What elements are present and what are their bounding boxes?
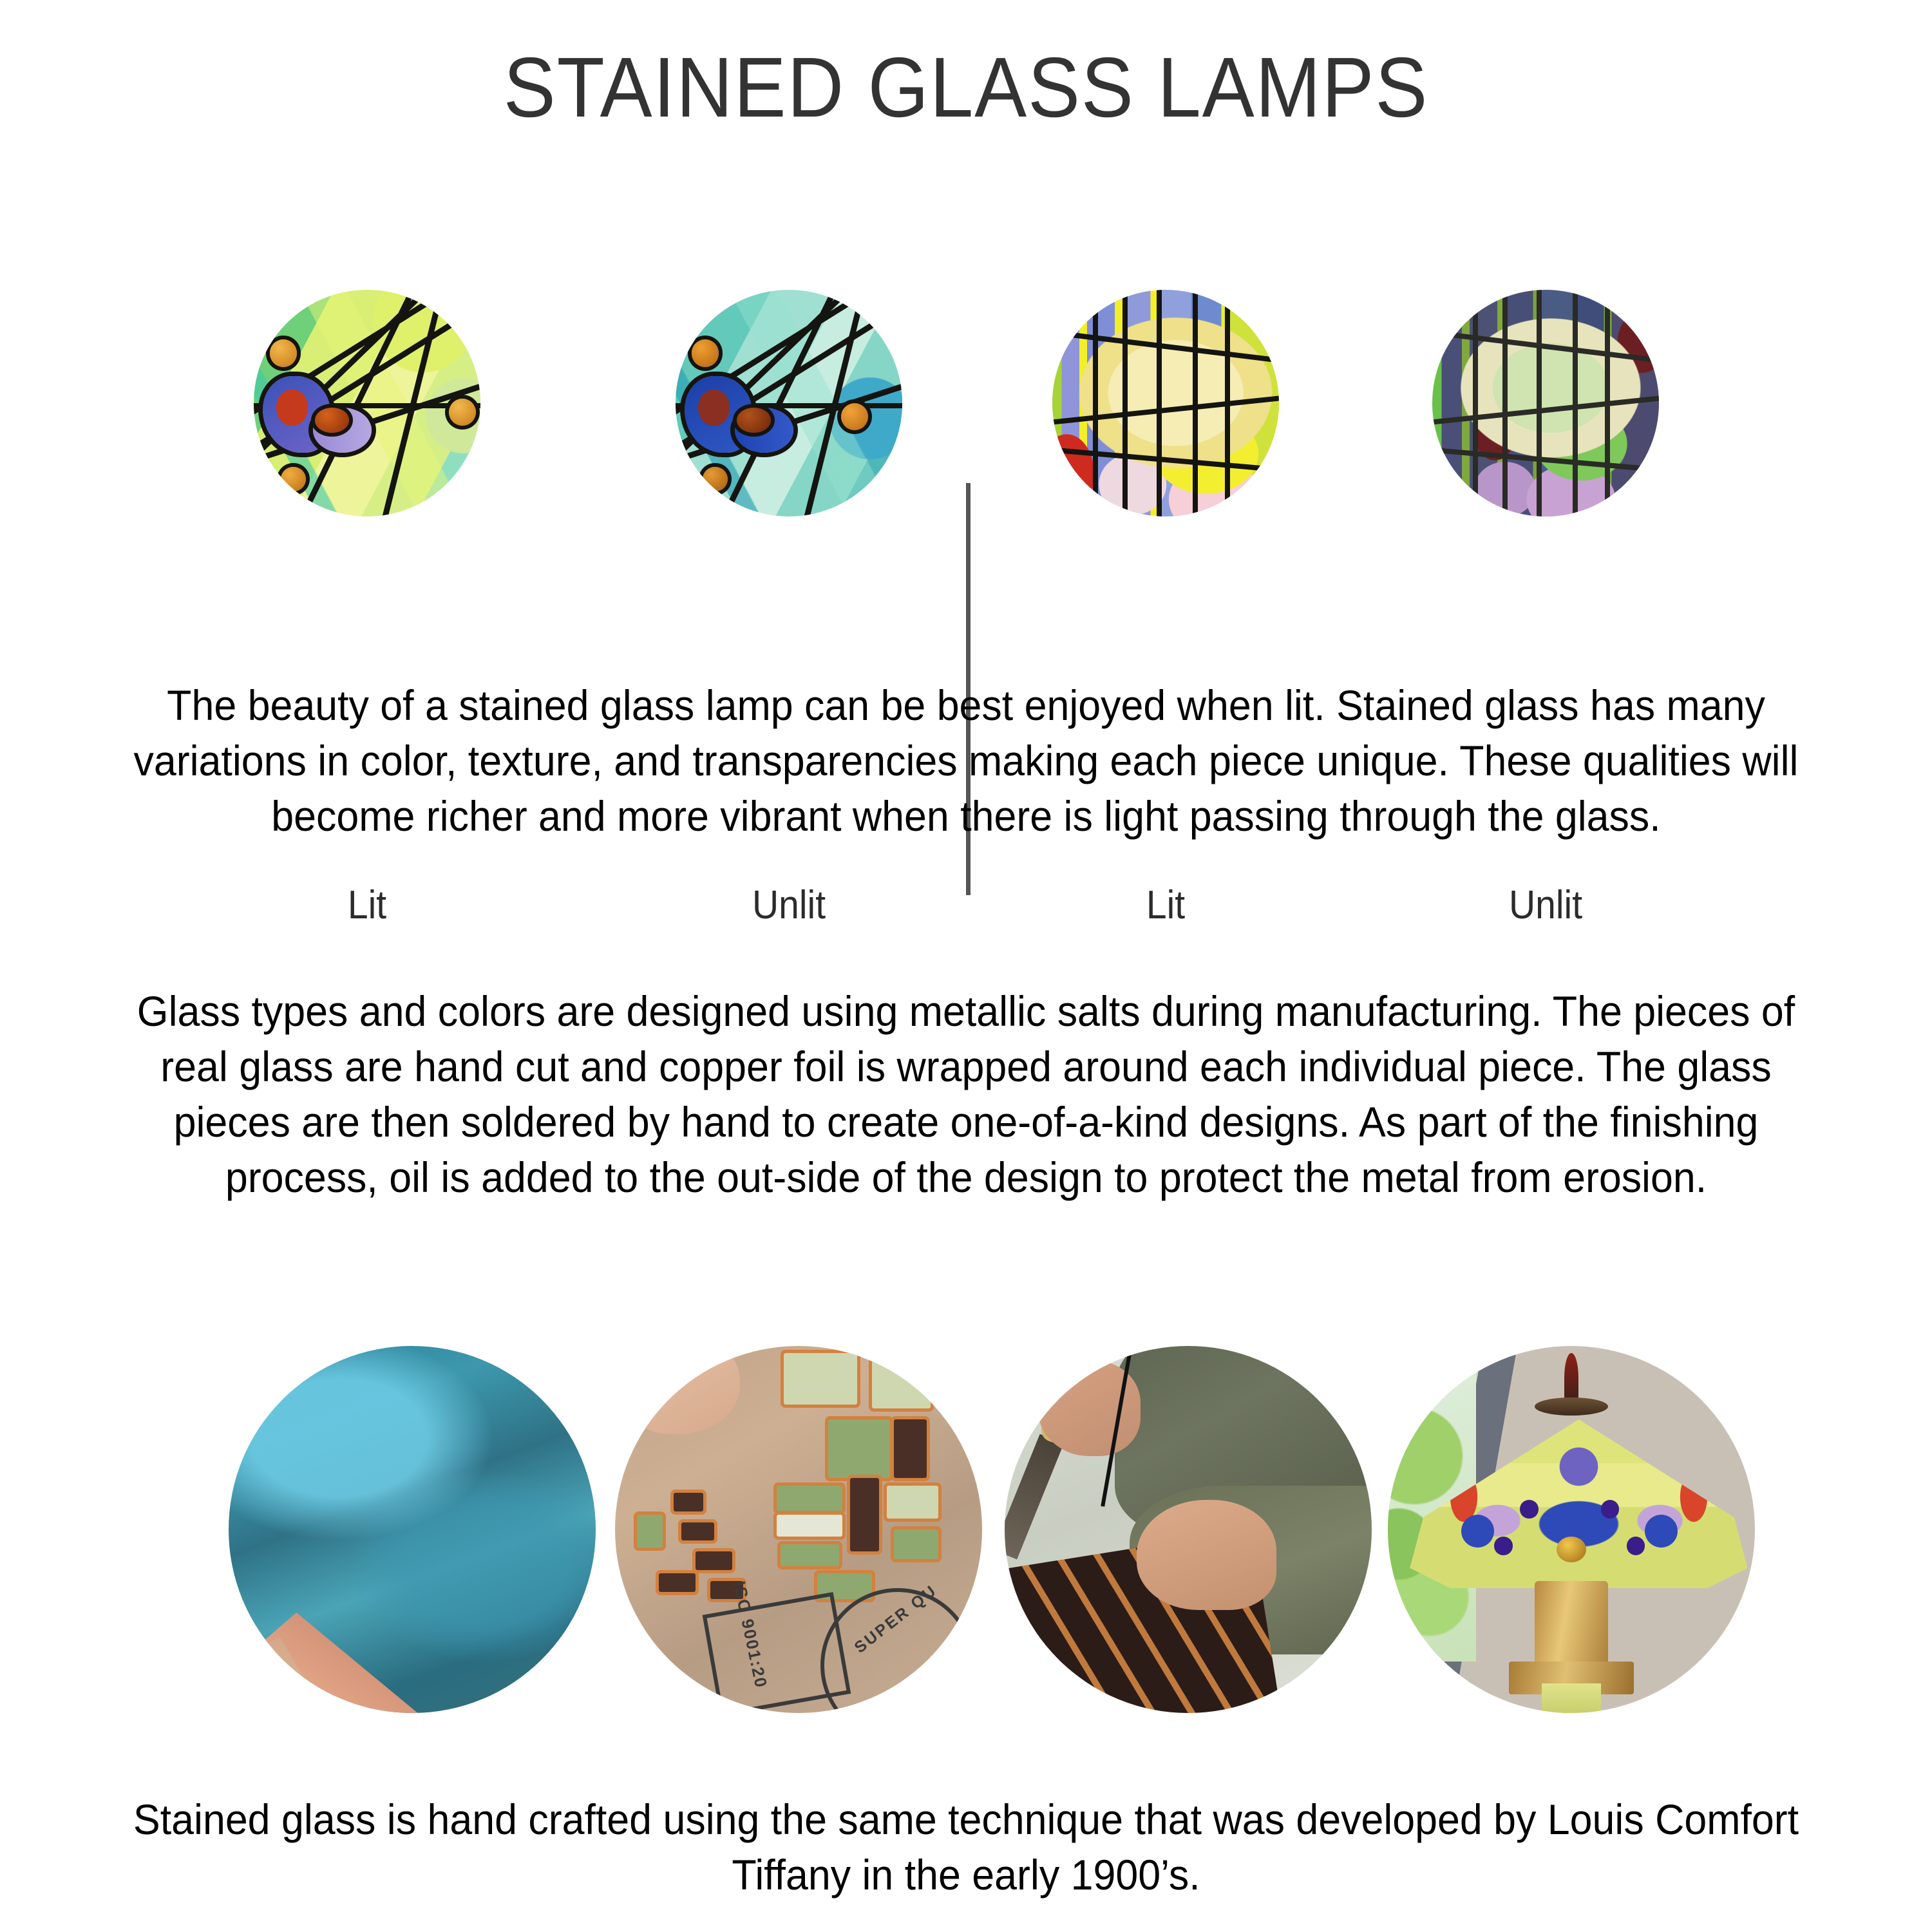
photo-finished-tiffany-lamp (1388, 1346, 1755, 1713)
closing-paragraph: Stained glass is hand crafted using the … (116, 1792, 1817, 1902)
photo-copper-foiled-glass-pieces: SUPER QU ISO 9001:20 (615, 1346, 982, 1713)
page-title: STAINED GLASS LAMPS (77, 39, 1855, 136)
photo-hand-soldering-panel (1005, 1346, 1372, 1713)
photo-blue-marbled-glass-sheet (229, 1346, 596, 1713)
caption-unlit-floral: Unlit (1441, 882, 1650, 928)
caption-lit-floral: Lit (1061, 882, 1270, 928)
caption-unlit-geometric: Unlit (685, 882, 893, 928)
intro-paragraph: The beauty of a stained glass lamp can b… (116, 677, 1817, 844)
glass-sample-geometric-unlit (676, 290, 902, 516)
glass-sample-floral-lit (1052, 290, 1279, 516)
glass-sample-geometric-lit (254, 290, 480, 516)
process-photo-row: SUPER QU ISO 9001:20 (0, 1346, 1932, 1719)
caption-lit-geometric: Lit (263, 882, 471, 928)
process-paragraph: Glass types and colors are designed usin… (116, 983, 1817, 1205)
lit-unlit-comparison-row: Lit Unlit Lit Unlit (0, 290, 1932, 599)
glass-sample-floral-unlit (1432, 290, 1659, 516)
